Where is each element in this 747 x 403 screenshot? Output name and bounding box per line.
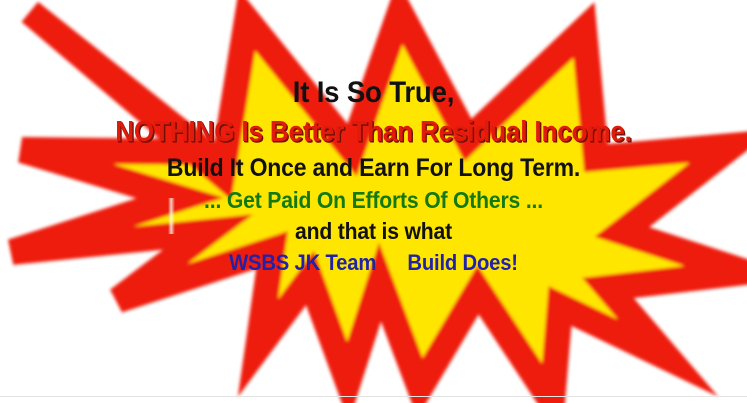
starburst-banner: It Is So True, NOTHING Is Better Than Re… [0,0,747,403]
starburst-polygon [12,12,745,402]
starburst-graphic [0,0,747,403]
bottom-divider [0,396,747,397]
